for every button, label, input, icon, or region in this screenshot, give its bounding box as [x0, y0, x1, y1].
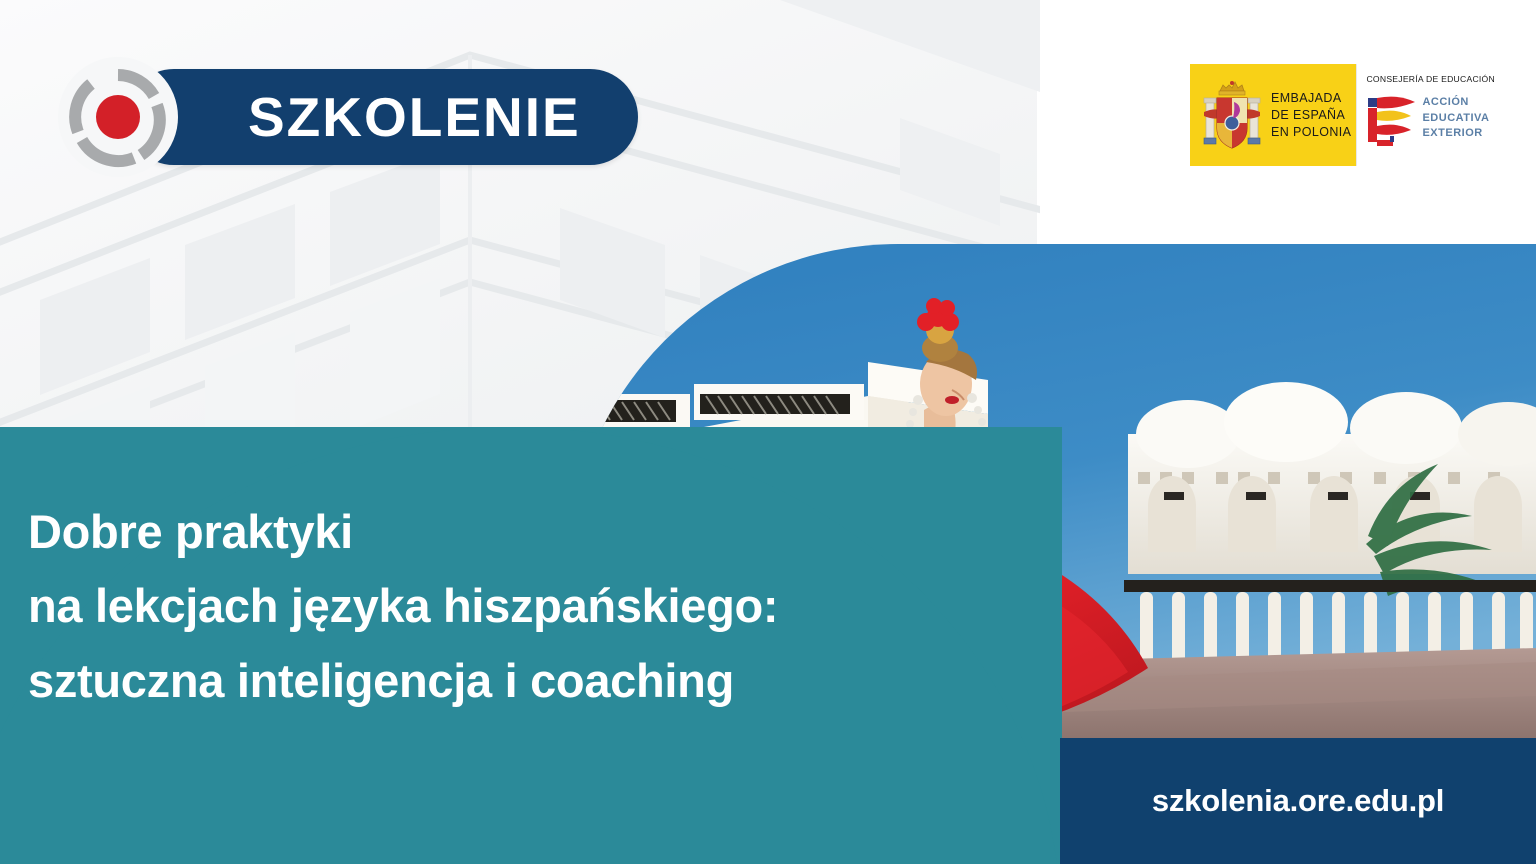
- headline-line-1: Dobre praktyki: [28, 495, 988, 569]
- education-block: CONSEJERÍA DE EDUCACIÓN ACCIÓN EDUCATIVA…: [1356, 64, 1500, 166]
- accion-line-1: ACCIÓN: [1422, 95, 1489, 111]
- szkolenie-label: SZKOLENIE: [248, 85, 581, 149]
- szkolenie-pill: SZKOLENIE: [126, 69, 638, 165]
- accion-line-2: EDUCATIVA: [1422, 111, 1489, 127]
- embassy-block: EMBAJADA DE ESPAÑA EN POLONIA: [1190, 64, 1356, 166]
- embassy-line-2: DE ESPAÑA: [1271, 107, 1351, 124]
- accion-educativa-text: ACCIÓN EDUCATIVA EXTERIOR: [1422, 95, 1489, 142]
- headline-line-2: na lekcjach języka hiszpańskiego:: [28, 569, 988, 643]
- embassy-text: EMBAJADA DE ESPAÑA EN POLONIA: [1271, 90, 1351, 141]
- spain-coat-of-arms-icon: [1202, 78, 1262, 152]
- embassy-line-3: EN POLONIA: [1271, 124, 1351, 141]
- embassy-line-1: EMBAJADA: [1271, 90, 1351, 107]
- accion-line-3: EXTERIOR: [1422, 126, 1489, 142]
- spain-embassy-logo: EMBAJADA DE ESPAÑA EN POLONIA CONSEJERÍA…: [1190, 64, 1500, 166]
- spanish-flag-e-mark-icon: [1366, 92, 1418, 150]
- consejeria-heading: CONSEJERÍA DE EDUCACIÓN: [1366, 74, 1494, 84]
- promo-banner: Dobre praktyki na lekcjach języka hiszpa…: [0, 0, 1536, 864]
- page-title: Dobre praktyki na lekcjach języka hiszpa…: [28, 495, 988, 718]
- headline-line-3: sztuczna inteligencja i coaching: [28, 644, 988, 718]
- target-ring-icon: [58, 57, 178, 177]
- website-url[interactable]: szkolenia.ore.edu.pl: [1060, 738, 1536, 864]
